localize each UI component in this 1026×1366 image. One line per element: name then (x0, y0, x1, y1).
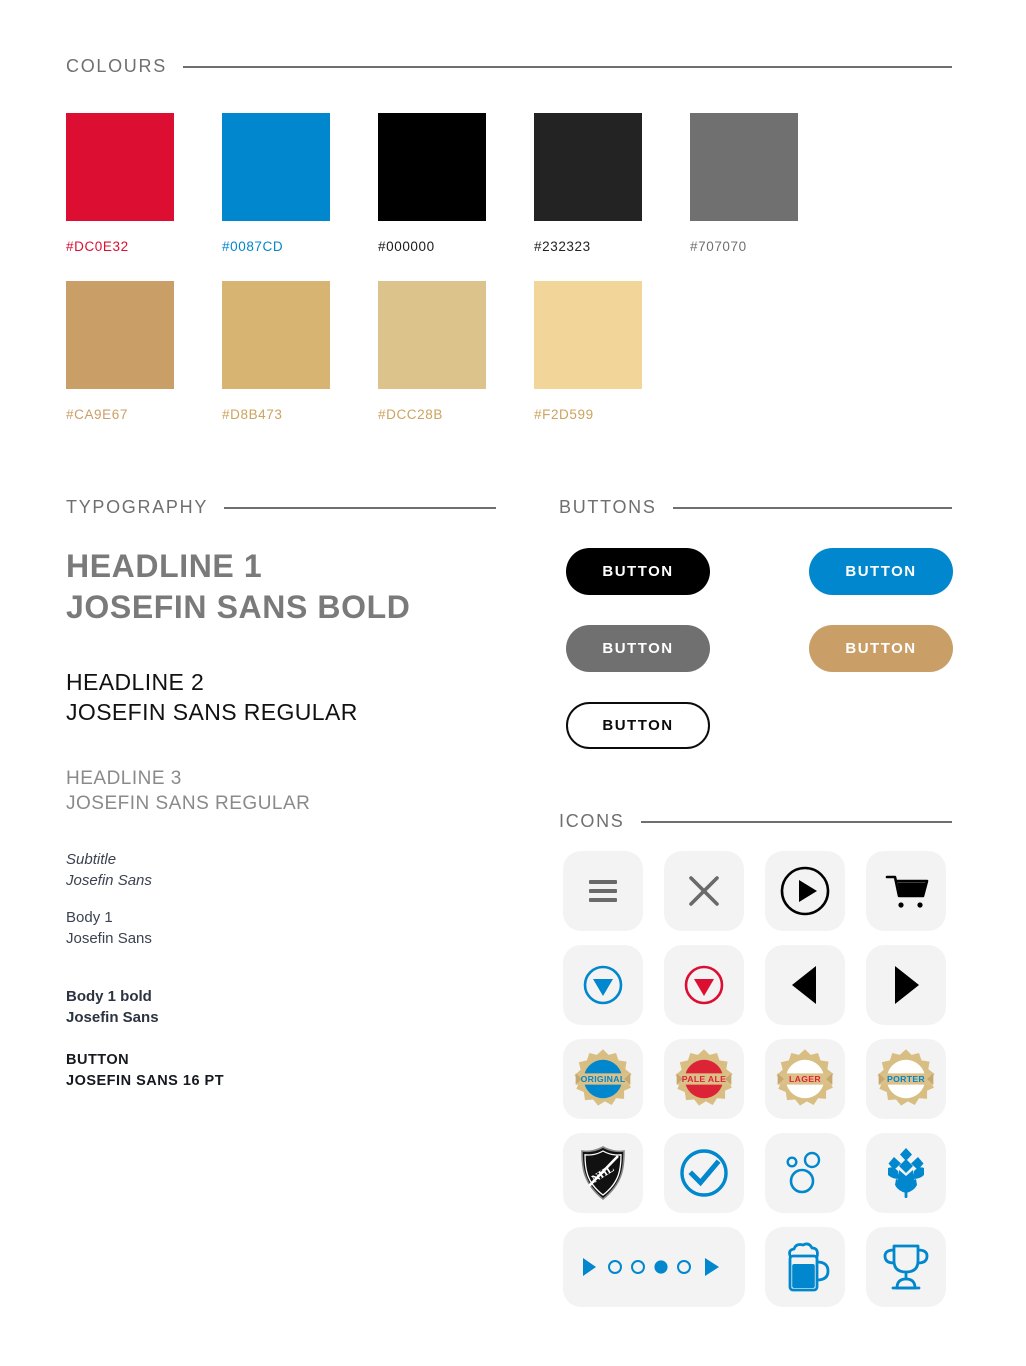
section-header-colours: COLOURS (66, 56, 952, 77)
headline-1-line-2: JOSEFIN SANS BOLD (66, 587, 410, 628)
colour-swatch: #DCC28B (378, 281, 486, 422)
beer-mug-icon (779, 1240, 831, 1294)
hamburger-menu-icon (589, 875, 617, 907)
colour-swatch: #707070 (690, 113, 798, 254)
chevron-down-circle-red-icon (682, 963, 726, 1007)
carousel-dot-4 (678, 1261, 690, 1273)
icon-tile-bottlecap-original[interactable]: ORIGINAL (563, 1039, 643, 1119)
carousel-pagination-icon (579, 1254, 729, 1280)
shopping-cart-icon (883, 870, 929, 912)
close-x-icon (686, 873, 722, 909)
type-sample-body-1: Body 1 Josefin Sans (66, 908, 152, 949)
carousel-dot-3-active (654, 1260, 667, 1273)
icon-tile-hop[interactable] (866, 1133, 946, 1213)
headline-2-line-2: JOSEFIN SANS REGULAR (66, 697, 358, 727)
icon-tile-play[interactable] (765, 851, 845, 931)
carousel-pagination[interactable] (563, 1227, 745, 1307)
icon-tile-arrow-left[interactable] (765, 945, 845, 1025)
icon-tile-chevron-down-blue[interactable] (563, 945, 643, 1025)
type-sample-button: BUTTON JOSEFIN SANS 16 PT (66, 1050, 224, 1091)
icon-tile-bottlecap-lager[interactable]: LAGER (765, 1039, 845, 1119)
colour-row-2: #CA9E67 #D8B473 #DCC28B #F2D599 (66, 281, 690, 422)
colour-swatch: #DC0E32 (66, 113, 174, 254)
carousel-dot-1 (609, 1261, 621, 1273)
colour-hex-label: #000000 (378, 239, 486, 254)
play-circle-icon (778, 864, 832, 918)
colour-chip (534, 281, 642, 389)
carousel-dot-2 (632, 1261, 644, 1273)
colour-swatch: #D8B473 (222, 281, 330, 422)
body-1-bold-line-1: Body 1 bold (66, 987, 159, 1008)
svg-text:ORIGINAL: ORIGINAL (581, 1074, 626, 1084)
button-grey[interactable]: BUTTON (566, 625, 710, 672)
svg-text:PALE ALE: PALE ALE (682, 1074, 726, 1084)
icon-tile-bottlecap-pale-ale[interactable]: PALE ALE (664, 1039, 744, 1119)
bottlecap-lager-icon: LAGER (774, 1048, 836, 1110)
icon-tile-cart[interactable] (866, 851, 946, 931)
hop-cone-icon (883, 1146, 929, 1200)
svg-text:LAGER: LAGER (789, 1074, 821, 1084)
button-type-line-1: BUTTON (66, 1050, 224, 1071)
section-rule-colours (183, 66, 952, 68)
subtitle-line-1: Subtitle (66, 850, 152, 871)
button-black[interactable]: BUTTON (566, 548, 710, 595)
button-tan[interactable]: BUTTON (809, 625, 953, 672)
headline-3-line-2: JOSEFIN SANS REGULAR (66, 791, 310, 816)
carousel-prev-arrow (583, 1258, 596, 1276)
section-title-colours: COLOURS (66, 56, 167, 77)
button-type-line-2: JOSEFIN SANS 16 PT (66, 1071, 224, 1092)
arrow-right-icon (891, 964, 921, 1006)
type-sample-subtitle: Subtitle Josefin Sans (66, 850, 152, 891)
colour-hex-label: #DCC28B (378, 407, 486, 422)
colour-swatch: #0087CD (222, 113, 330, 254)
icon-tile-check[interactable] (664, 1133, 744, 1213)
colour-swatch: #000000 (378, 113, 486, 254)
section-header-buttons: BUTTONS (559, 497, 952, 518)
button-blue[interactable]: BUTTON (809, 548, 953, 595)
headline-1-line-1: HEADLINE 1 (66, 546, 410, 587)
colour-hex-label: #F2D599 (534, 407, 642, 422)
icon-tile-hamburger[interactable] (563, 851, 643, 931)
colour-swatch: #232323 (534, 113, 642, 254)
colour-hex-label: #DC0E32 (66, 239, 174, 254)
colour-hex-label: #D8B473 (222, 407, 330, 422)
section-title-icons: ICONS (559, 811, 625, 832)
icon-tile-arrow-right[interactable] (866, 945, 946, 1025)
subtitle-line-2: Josefin Sans (66, 871, 152, 892)
check-circle-icon (678, 1147, 730, 1199)
section-title-typography: TYPOGRAPHY (66, 497, 208, 518)
section-header-icons: ICONS (559, 811, 952, 832)
brand-styleguide-page: COLOURS #DC0E32 #0087CD #000000 #232323 … (0, 0, 1026, 1366)
colour-chip (66, 281, 174, 389)
bottlecap-pale-ale-icon: PALE ALE (673, 1048, 735, 1110)
svg-text:PORTER: PORTER (887, 1074, 925, 1084)
type-sample-body-1-bold: Body 1 bold Josefin Sans (66, 987, 159, 1028)
colour-hex-label: #CA9E67 (66, 407, 174, 422)
colour-chip (222, 113, 330, 221)
colour-chip (66, 113, 174, 221)
type-sample-headline-3: HEADLINE 3 JOSEFIN SANS REGULAR (66, 766, 310, 817)
section-title-buttons: BUTTONS (559, 497, 657, 518)
colour-chip (222, 281, 330, 389)
bubbles-icon (780, 1148, 830, 1198)
section-rule-buttons (673, 507, 952, 509)
colour-chip (534, 113, 642, 221)
body-1-bold-line-2: Josefin Sans (66, 1008, 159, 1029)
bottlecap-porter-icon: PORTER (875, 1048, 937, 1110)
chevron-down-circle-blue-icon (581, 963, 625, 1007)
nhl-shield-icon: NHL (578, 1145, 628, 1201)
colour-chip (690, 113, 798, 221)
icon-tile-chevron-down-red[interactable] (664, 945, 744, 1025)
icon-tile-beer[interactable] (765, 1227, 845, 1307)
colour-chip (378, 281, 486, 389)
bottlecap-original-icon: ORIGINAL (572, 1048, 634, 1110)
section-header-typography: TYPOGRAPHY (66, 497, 496, 518)
icon-tile-bottlecap-porter[interactable]: PORTER (866, 1039, 946, 1119)
headline-3-line-1: HEADLINE 3 (66, 766, 310, 791)
body-1-line-2: Josefin Sans (66, 929, 152, 950)
colour-hex-label: #0087CD (222, 239, 330, 254)
arrow-left-icon (790, 964, 820, 1006)
icon-tile-trophy[interactable] (866, 1227, 946, 1307)
colour-hex-label: #232323 (534, 239, 642, 254)
colour-hex-label: #707070 (690, 239, 798, 254)
type-sample-headline-1: HEADLINE 1 JOSEFIN SANS BOLD (66, 546, 410, 628)
icon-tile-nhl[interactable]: NHL (563, 1133, 643, 1213)
colour-row-1: #DC0E32 #0087CD #000000 #232323 #707070 (66, 113, 846, 254)
icon-tile-close[interactable] (664, 851, 744, 931)
section-rule-icons (641, 821, 952, 823)
colour-chip (378, 113, 486, 221)
section-rule-typography (224, 507, 496, 509)
headline-2-line-1: HEADLINE 2 (66, 667, 358, 697)
button-outline[interactable]: BUTTON (566, 702, 710, 749)
colour-swatch: #CA9E67 (66, 281, 174, 422)
colour-swatch: #F2D599 (534, 281, 642, 422)
type-sample-headline-2: HEADLINE 2 JOSEFIN SANS REGULAR (66, 667, 358, 728)
carousel-next-arrow (705, 1258, 719, 1276)
body-1-line-1: Body 1 (66, 908, 152, 929)
icon-tile-bubbles[interactable] (765, 1133, 845, 1213)
trophy-icon (880, 1241, 932, 1293)
